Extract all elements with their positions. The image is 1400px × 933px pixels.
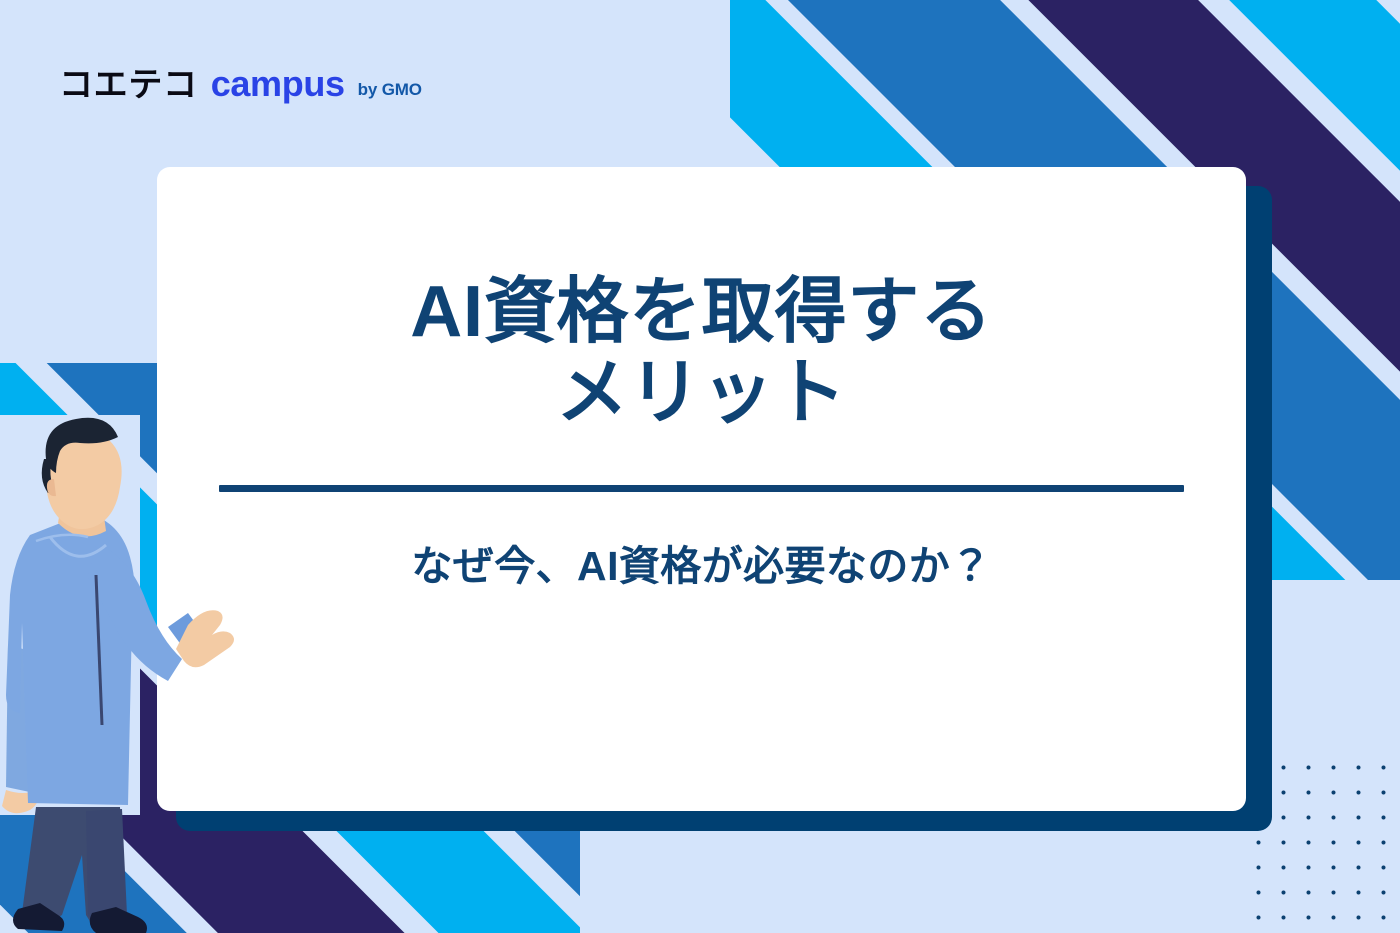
slide-canvas: AI資格を取得する メリット なぜ今、AI資格が必要なのか？ コエテコ camp…: [0, 0, 1400, 933]
page-subtitle: なぜ今、AI資格が必要なのか？: [411, 542, 991, 591]
logo-campus-text: campus: [211, 66, 345, 102]
logo-koeteco-text: コエテコ: [59, 68, 198, 102]
card-content: AI資格を取得する メリット なぜ今、AI資格が必要なのか？: [157, 167, 1246, 811]
logo-by-gmo-text: by GMO: [358, 81, 422, 102]
man-pointing-icon: [0, 415, 260, 933]
brand-logo: コエテコ campus by GMO: [59, 66, 422, 102]
person-illustration: [0, 415, 260, 933]
page-title: AI資格を取得する メリット: [410, 272, 992, 435]
title-divider: [219, 485, 1184, 492]
